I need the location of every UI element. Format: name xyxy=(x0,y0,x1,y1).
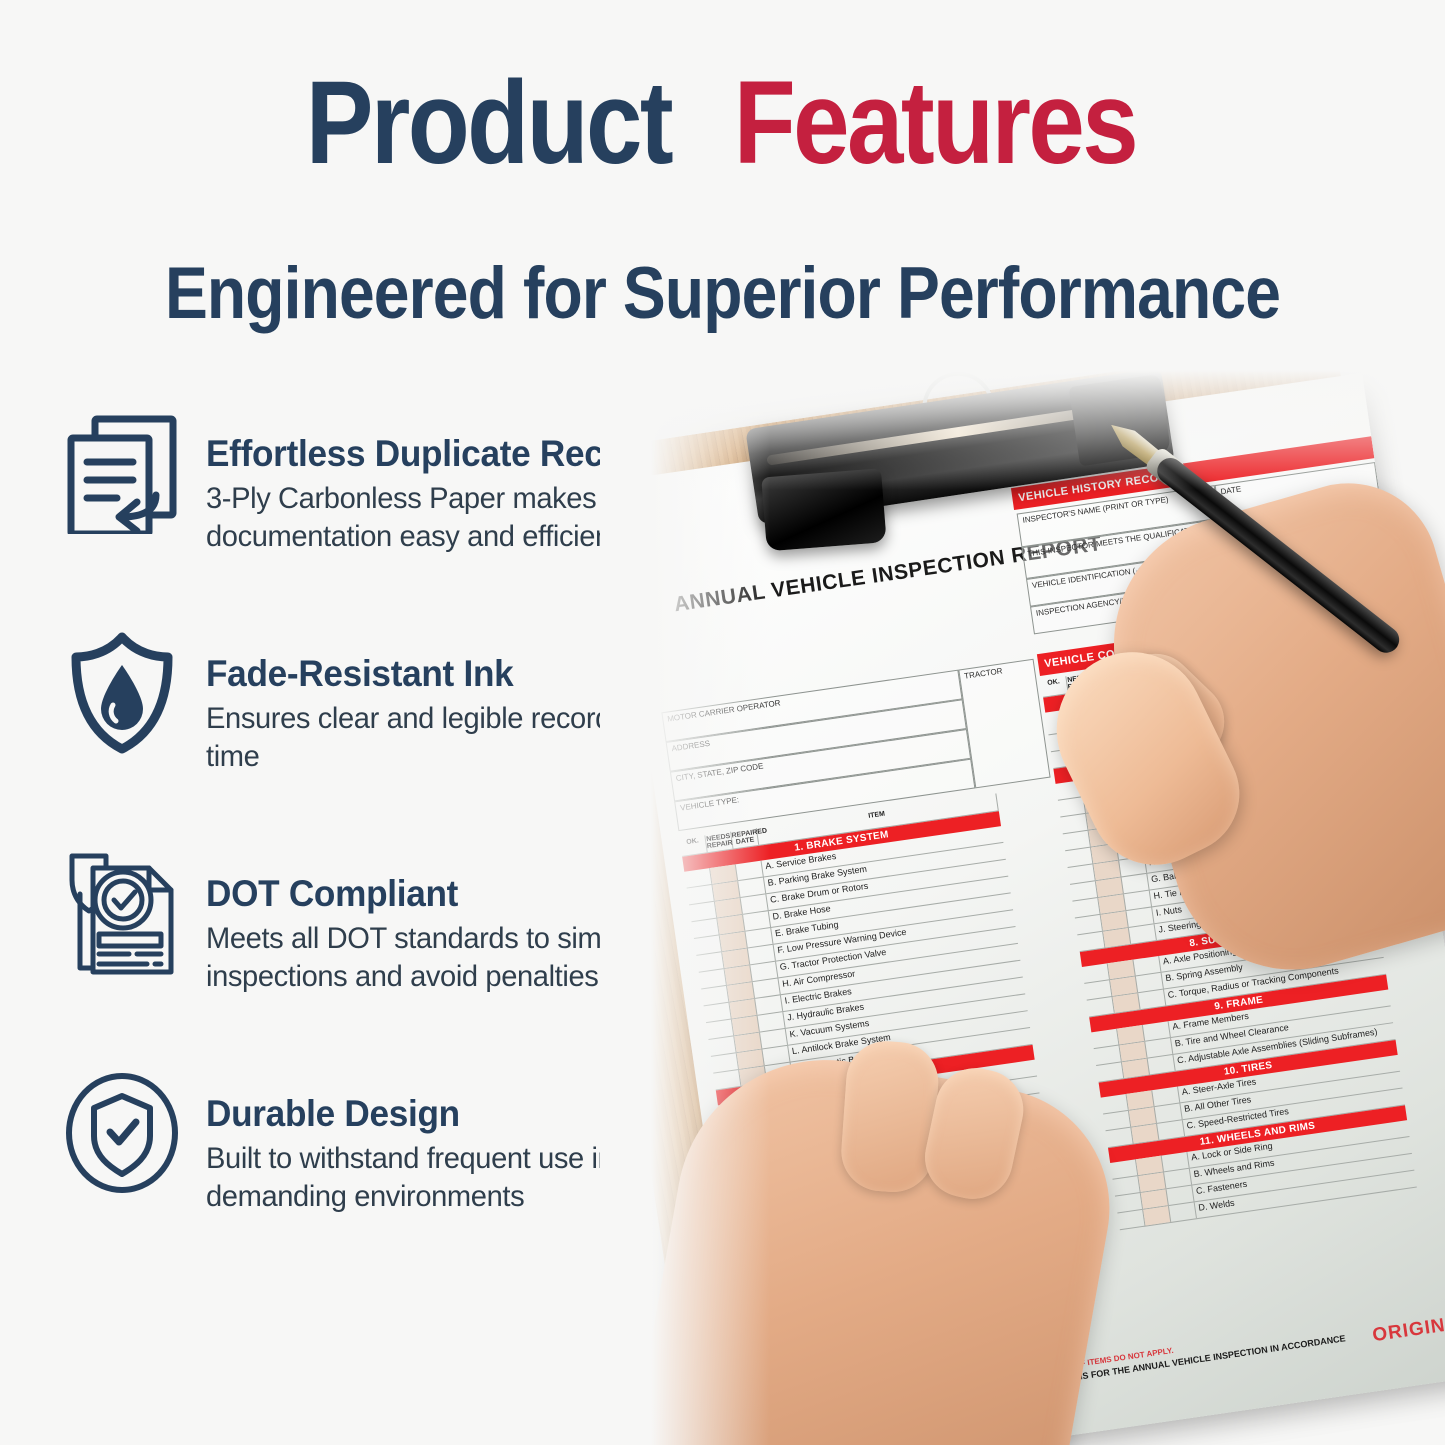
duplicate-documents-icon xyxy=(58,404,186,536)
form-checkbox-cell[interactable] xyxy=(1143,1206,1171,1226)
form-field-vehicle-type-options: TRACTOR xyxy=(958,659,1050,789)
clip-lever xyxy=(761,468,886,551)
form-checkbox-cell[interactable] xyxy=(1169,1202,1197,1222)
page-title: ProductFeatures xyxy=(0,62,1445,185)
form-checkbox-cell[interactable] xyxy=(1117,1210,1145,1230)
shield-ink-drop-icon xyxy=(58,624,186,756)
certified-document-icon xyxy=(58,844,186,976)
page-title-part-1: Product xyxy=(306,62,671,185)
page-subtitle: Engineered for Superior Performance xyxy=(87,252,1359,335)
product-features-page: ProductFeatures Engineered for Superior … xyxy=(0,0,1445,1445)
finger xyxy=(839,1039,941,1195)
product-photo: BUCK U.S. ANNUAL VEHICLE INSPECTION REPO… xyxy=(600,370,1445,1445)
page-title-part-2: Features xyxy=(734,62,1136,185)
shield-check-circle-icon xyxy=(58,1064,186,1196)
